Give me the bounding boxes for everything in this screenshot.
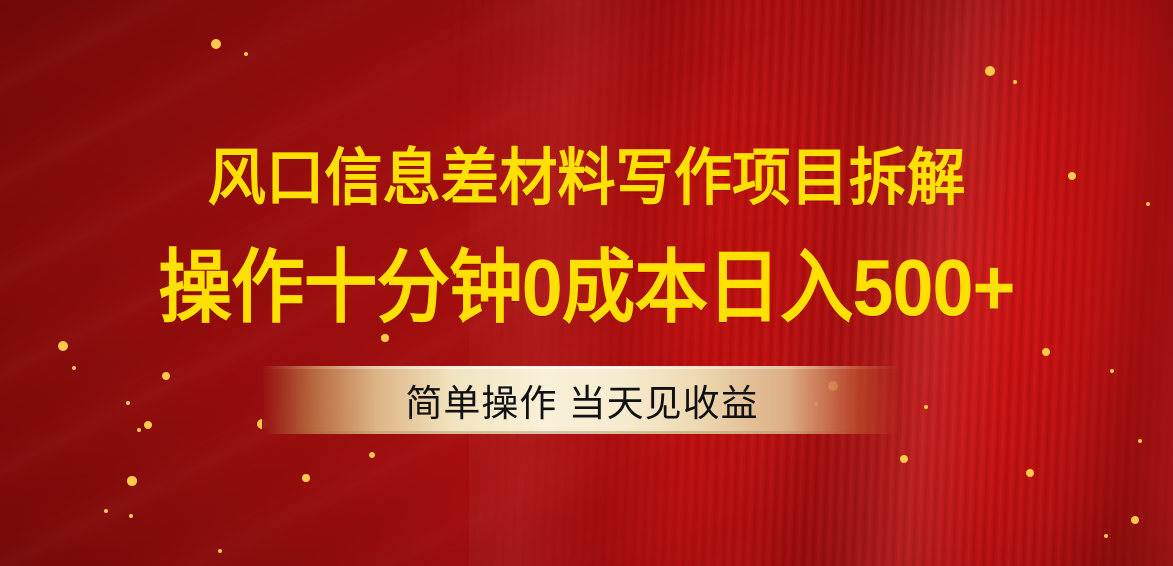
headline-secondary: 操作十分钟0成本日入500+ bbox=[47, 248, 1126, 328]
banner-label: 简单操作 当天见收益 bbox=[405, 373, 758, 427]
poster-content: 风口信息差材料写作项目拆解 操作十分钟0成本日入500+ 简单操作 当天见收益 bbox=[0, 0, 1173, 566]
headline-primary: 风口信息差材料写作项目拆解 bbox=[35, 148, 1138, 210]
gold-banner: 简单操作 当天见收益 bbox=[262, 366, 902, 434]
promo-poster: 风口信息差材料写作项目拆解 操作十分钟0成本日入500+ 简单操作 当天见收益 bbox=[0, 0, 1173, 566]
